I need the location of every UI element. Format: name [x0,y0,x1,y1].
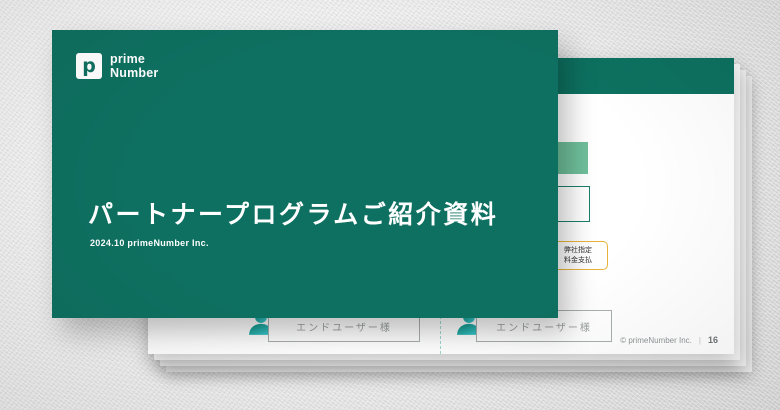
vignette-overlay [0,0,780,410]
screenshot-stage: ...rtner (再販代理店制度)」と ...してます ...ent Part… [0,0,780,410]
